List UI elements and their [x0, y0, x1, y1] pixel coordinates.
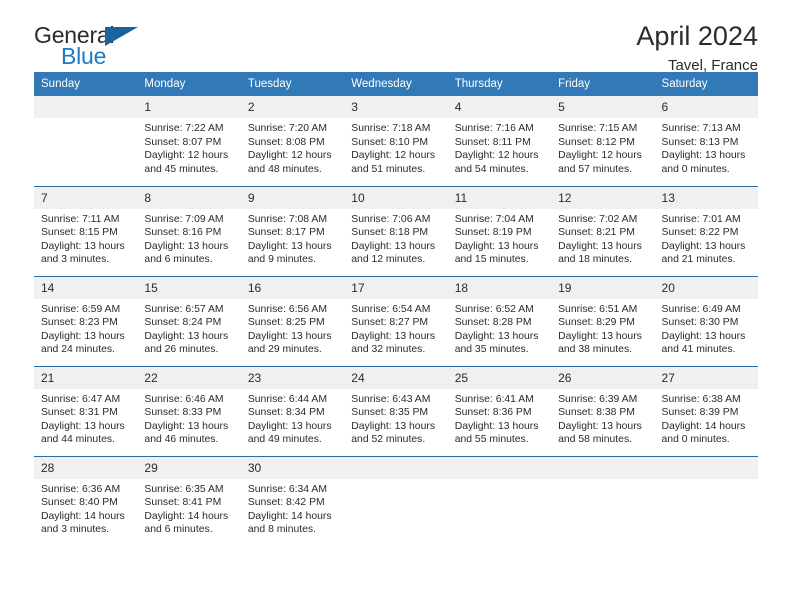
- calendar-day-cell[interactable]: 21Sunrise: 6:47 AMSunset: 8:31 PMDayligh…: [34, 366, 137, 456]
- calendar-day-cell[interactable]: 9Sunrise: 7:08 AMSunset: 8:17 PMDaylight…: [241, 186, 344, 276]
- sunrise-text: Sunrise: 6:38 AM: [662, 393, 750, 407]
- day-number: 18: [448, 277, 551, 299]
- daylight-text: Daylight: 13 hours and 35 minutes.: [455, 330, 543, 357]
- day-details: Sunrise: 7:01 AMSunset: 8:22 PMDaylight:…: [655, 209, 758, 267]
- sunset-text: Sunset: 8:07 PM: [144, 136, 232, 150]
- logo-text-blue: Blue: [61, 45, 106, 68]
- calendar-day-cell[interactable]: 18Sunrise: 6:52 AMSunset: 8:28 PMDayligh…: [448, 276, 551, 366]
- calendar-day-cell[interactable]: 5Sunrise: 7:15 AMSunset: 8:12 PMDaylight…: [551, 96, 654, 186]
- day-details: Sunrise: 6:34 AMSunset: 8:42 PMDaylight:…: [241, 479, 344, 537]
- day-details: Sunrise: 6:47 AMSunset: 8:31 PMDaylight:…: [34, 389, 137, 447]
- day-number: 14: [34, 277, 137, 299]
- day-number: 11: [448, 187, 551, 209]
- daylight-text: Daylight: 13 hours and 55 minutes.: [455, 420, 543, 447]
- day-number: [34, 96, 137, 118]
- daylight-text: Daylight: 13 hours and 0 minutes.: [662, 149, 750, 176]
- calendar-day-cell[interactable]: 19Sunrise: 6:51 AMSunset: 8:29 PMDayligh…: [551, 276, 654, 366]
- sunset-text: Sunset: 8:38 PM: [558, 406, 646, 420]
- day-number: 26: [551, 367, 654, 389]
- day-number: 13: [655, 187, 758, 209]
- sunrise-text: Sunrise: 6:44 AM: [248, 393, 336, 407]
- day-details: Sunrise: 7:04 AMSunset: 8:19 PMDaylight:…: [448, 209, 551, 267]
- calendar-day-cell[interactable]: 29Sunrise: 6:35 AMSunset: 8:41 PMDayligh…: [137, 456, 240, 546]
- day-number: 22: [137, 367, 240, 389]
- sunrise-text: Sunrise: 7:16 AM: [455, 122, 543, 136]
- calendar-day-cell[interactable]: 8Sunrise: 7:09 AMSunset: 8:16 PMDaylight…: [137, 186, 240, 276]
- calendar-day-cell[interactable]: 25Sunrise: 6:41 AMSunset: 8:36 PMDayligh…: [448, 366, 551, 456]
- calendar-body: 1Sunrise: 7:22 AMSunset: 8:07 PMDaylight…: [34, 96, 758, 546]
- sunrise-text: Sunrise: 7:01 AM: [662, 213, 750, 227]
- day-details: Sunrise: 7:09 AMSunset: 8:16 PMDaylight:…: [137, 209, 240, 267]
- calendar-page: General Blue April 2024 Tavel, France Su…: [0, 0, 792, 612]
- daylight-text: Daylight: 14 hours and 8 minutes.: [248, 510, 336, 537]
- day-details: Sunrise: 7:16 AMSunset: 8:11 PMDaylight:…: [448, 118, 551, 176]
- sunrise-text: Sunrise: 6:54 AM: [351, 303, 439, 317]
- sunset-text: Sunset: 8:36 PM: [455, 406, 543, 420]
- sunrise-text: Sunrise: 6:43 AM: [351, 393, 439, 407]
- daylight-text: Daylight: 13 hours and 46 minutes.: [144, 420, 232, 447]
- daylight-text: Daylight: 12 hours and 48 minutes.: [248, 149, 336, 176]
- day-number: [344, 457, 447, 479]
- calendar-day-cell[interactable]: 24Sunrise: 6:43 AMSunset: 8:35 PMDayligh…: [344, 366, 447, 456]
- sunset-text: Sunset: 8:42 PM: [248, 496, 336, 510]
- calendar-week-row: 28Sunrise: 6:36 AMSunset: 8:40 PMDayligh…: [34, 456, 758, 546]
- title-block: April 2024 Tavel, France: [636, 22, 758, 74]
- day-number: 4: [448, 96, 551, 118]
- day-details: Sunrise: 6:56 AMSunset: 8:25 PMDaylight:…: [241, 299, 344, 357]
- day-number: [655, 457, 758, 479]
- daylight-text: Daylight: 13 hours and 29 minutes.: [248, 330, 336, 357]
- daylight-text: Daylight: 13 hours and 52 minutes.: [351, 420, 439, 447]
- sunrise-sunset-calendar: Sunday Monday Tuesday Wednesday Thursday…: [34, 72, 758, 546]
- sunset-text: Sunset: 8:17 PM: [248, 226, 336, 240]
- day-details: Sunrise: 6:57 AMSunset: 8:24 PMDaylight:…: [137, 299, 240, 357]
- weekday-header-monday: Monday: [137, 72, 240, 96]
- sunset-text: Sunset: 8:23 PM: [41, 316, 129, 330]
- sunset-text: Sunset: 8:25 PM: [248, 316, 336, 330]
- daylight-text: Daylight: 13 hours and 26 minutes.: [144, 330, 232, 357]
- weekday-header-sunday: Sunday: [34, 72, 137, 96]
- day-details: Sunrise: 7:06 AMSunset: 8:18 PMDaylight:…: [344, 209, 447, 267]
- calendar-cell-empty: [448, 456, 551, 546]
- sunrise-text: Sunrise: 7:22 AM: [144, 122, 232, 136]
- sunrise-text: Sunrise: 6:35 AM: [144, 483, 232, 497]
- calendar-day-cell[interactable]: 4Sunrise: 7:16 AMSunset: 8:11 PMDaylight…: [448, 96, 551, 186]
- calendar-week-row: 14Sunrise: 6:59 AMSunset: 8:23 PMDayligh…: [34, 276, 758, 366]
- day-details: Sunrise: 6:36 AMSunset: 8:40 PMDaylight:…: [34, 479, 137, 537]
- calendar-day-cell[interactable]: 1Sunrise: 7:22 AMSunset: 8:07 PMDaylight…: [137, 96, 240, 186]
- calendar-day-cell[interactable]: 30Sunrise: 6:34 AMSunset: 8:42 PMDayligh…: [241, 456, 344, 546]
- sunrise-text: Sunrise: 7:15 AM: [558, 122, 646, 136]
- sunrise-text: Sunrise: 6:39 AM: [558, 393, 646, 407]
- daylight-text: Daylight: 13 hours and 6 minutes.: [144, 240, 232, 267]
- sunrise-text: Sunrise: 6:34 AM: [248, 483, 336, 497]
- sunset-text: Sunset: 8:08 PM: [248, 136, 336, 150]
- calendar-day-cell[interactable]: 3Sunrise: 7:18 AMSunset: 8:10 PMDaylight…: [344, 96, 447, 186]
- sunset-text: Sunset: 8:10 PM: [351, 136, 439, 150]
- sunset-text: Sunset: 8:22 PM: [662, 226, 750, 240]
- day-details: Sunrise: 7:15 AMSunset: 8:12 PMDaylight:…: [551, 118, 654, 176]
- day-details: Sunrise: 6:52 AMSunset: 8:28 PMDaylight:…: [448, 299, 551, 357]
- calendar-day-cell[interactable]: 22Sunrise: 6:46 AMSunset: 8:33 PMDayligh…: [137, 366, 240, 456]
- sunset-text: Sunset: 8:18 PM: [351, 226, 439, 240]
- sunset-text: Sunset: 8:35 PM: [351, 406, 439, 420]
- day-number: 17: [344, 277, 447, 299]
- day-details: Sunrise: 7:08 AMSunset: 8:17 PMDaylight:…: [241, 209, 344, 267]
- day-details: Sunrise: 7:11 AMSunset: 8:15 PMDaylight:…: [34, 209, 137, 267]
- daylight-text: Daylight: 13 hours and 38 minutes.: [558, 330, 646, 357]
- daylight-text: Daylight: 13 hours and 3 minutes.: [41, 240, 129, 267]
- sunset-text: Sunset: 8:27 PM: [351, 316, 439, 330]
- sunrise-text: Sunrise: 7:11 AM: [41, 213, 129, 227]
- day-number: 3: [344, 96, 447, 118]
- day-details: Sunrise: 6:54 AMSunset: 8:27 PMDaylight:…: [344, 299, 447, 357]
- day-details: Sunrise: 6:41 AMSunset: 8:36 PMDaylight:…: [448, 389, 551, 447]
- page-title: April 2024: [636, 22, 758, 50]
- page-header: General Blue April 2024 Tavel, France: [34, 0, 758, 72]
- sunrise-text: Sunrise: 6:51 AM: [558, 303, 646, 317]
- day-number: 10: [344, 187, 447, 209]
- sunset-text: Sunset: 8:24 PM: [144, 316, 232, 330]
- day-details: Sunrise: 7:02 AMSunset: 8:21 PMDaylight:…: [551, 209, 654, 267]
- sunrise-text: Sunrise: 7:20 AM: [248, 122, 336, 136]
- daylight-text: Daylight: 13 hours and 15 minutes.: [455, 240, 543, 267]
- sunrise-text: Sunrise: 7:04 AM: [455, 213, 543, 227]
- daylight-text: Daylight: 13 hours and 18 minutes.: [558, 240, 646, 267]
- calendar-week-row: 7Sunrise: 7:11 AMSunset: 8:15 PMDaylight…: [34, 186, 758, 276]
- day-number: 27: [655, 367, 758, 389]
- calendar-cell-empty: [655, 456, 758, 546]
- daylight-text: Daylight: 12 hours and 57 minutes.: [558, 149, 646, 176]
- sunrise-text: Sunrise: 6:52 AM: [455, 303, 543, 317]
- day-number: 24: [344, 367, 447, 389]
- general-blue-logo[interactable]: General Blue: [34, 22, 184, 70]
- sunrise-text: Sunrise: 7:02 AM: [558, 213, 646, 227]
- daylight-text: Daylight: 13 hours and 44 minutes.: [41, 420, 129, 447]
- sunrise-text: Sunrise: 6:59 AM: [41, 303, 129, 317]
- calendar-day-cell[interactable]: 16Sunrise: 6:56 AMSunset: 8:25 PMDayligh…: [241, 276, 344, 366]
- sunrise-text: Sunrise: 6:57 AM: [144, 303, 232, 317]
- day-number: 23: [241, 367, 344, 389]
- calendar-day-cell[interactable]: 6Sunrise: 7:13 AMSunset: 8:13 PMDaylight…: [655, 96, 758, 186]
- calendar-cell-empty: [344, 456, 447, 546]
- day-number: 20: [655, 277, 758, 299]
- day-number: 19: [551, 277, 654, 299]
- sunrise-text: Sunrise: 7:18 AM: [351, 122, 439, 136]
- weekday-header-wednesday: Wednesday: [344, 72, 447, 96]
- day-details: Sunrise: 6:51 AMSunset: 8:29 PMDaylight:…: [551, 299, 654, 357]
- triangle-icon: [105, 27, 138, 46]
- day-details: Sunrise: 6:38 AMSunset: 8:39 PMDaylight:…: [655, 389, 758, 447]
- day-number: 5: [551, 96, 654, 118]
- sunrise-text: Sunrise: 6:47 AM: [41, 393, 129, 407]
- day-details: Sunrise: 7:13 AMSunset: 8:13 PMDaylight:…: [655, 118, 758, 176]
- calendar-day-cell[interactable]: 13Sunrise: 7:01 AMSunset: 8:22 PMDayligh…: [655, 186, 758, 276]
- sunset-text: Sunset: 8:40 PM: [41, 496, 129, 510]
- calendar-cell-empty: [551, 456, 654, 546]
- calendar-day-cell[interactable]: 27Sunrise: 6:38 AMSunset: 8:39 PMDayligh…: [655, 366, 758, 456]
- day-number: [448, 457, 551, 479]
- calendar-day-cell[interactable]: 20Sunrise: 6:49 AMSunset: 8:30 PMDayligh…: [655, 276, 758, 366]
- daylight-text: Daylight: 13 hours and 21 minutes.: [662, 240, 750, 267]
- sunset-text: Sunset: 8:39 PM: [662, 406, 750, 420]
- weekday-header-tuesday: Tuesday: [241, 72, 344, 96]
- weekday-header-saturday: Saturday: [655, 72, 758, 96]
- daylight-text: Daylight: 13 hours and 24 minutes.: [41, 330, 129, 357]
- daylight-text: Daylight: 13 hours and 32 minutes.: [351, 330, 439, 357]
- weekday-header-friday: Friday: [551, 72, 654, 96]
- sunrise-text: Sunrise: 6:36 AM: [41, 483, 129, 497]
- day-number: 9: [241, 187, 344, 209]
- day-details: Sunrise: 7:18 AMSunset: 8:10 PMDaylight:…: [344, 118, 447, 176]
- sunrise-text: Sunrise: 7:13 AM: [662, 122, 750, 136]
- daylight-text: Daylight: 13 hours and 49 minutes.: [248, 420, 336, 447]
- sunset-text: Sunset: 8:13 PM: [662, 136, 750, 150]
- sunrise-text: Sunrise: 7:08 AM: [248, 213, 336, 227]
- calendar-day-cell[interactable]: 17Sunrise: 6:54 AMSunset: 8:27 PMDayligh…: [344, 276, 447, 366]
- day-number: 29: [137, 457, 240, 479]
- day-number: 8: [137, 187, 240, 209]
- day-details: Sunrise: 6:46 AMSunset: 8:33 PMDaylight:…: [137, 389, 240, 447]
- day-details: Sunrise: 6:39 AMSunset: 8:38 PMDaylight:…: [551, 389, 654, 447]
- sunrise-text: Sunrise: 7:06 AM: [351, 213, 439, 227]
- day-number: 28: [34, 457, 137, 479]
- sunset-text: Sunset: 8:21 PM: [558, 226, 646, 240]
- day-details: Sunrise: 6:44 AMSunset: 8:34 PMDaylight:…: [241, 389, 344, 447]
- sunrise-text: Sunrise: 6:56 AM: [248, 303, 336, 317]
- sunset-text: Sunset: 8:15 PM: [41, 226, 129, 240]
- day-number: 12: [551, 187, 654, 209]
- sunrise-text: Sunrise: 6:41 AM: [455, 393, 543, 407]
- sunset-text: Sunset: 8:19 PM: [455, 226, 543, 240]
- daylight-text: Daylight: 14 hours and 0 minutes.: [662, 420, 750, 447]
- calendar-day-cell[interactable]: 26Sunrise: 6:39 AMSunset: 8:38 PMDayligh…: [551, 366, 654, 456]
- daylight-text: Daylight: 12 hours and 54 minutes.: [455, 149, 543, 176]
- day-details: Sunrise: 6:35 AMSunset: 8:41 PMDaylight:…: [137, 479, 240, 537]
- day-details: Sunrise: 6:43 AMSunset: 8:35 PMDaylight:…: [344, 389, 447, 447]
- calendar-cell-empty: [34, 96, 137, 186]
- daylight-text: Daylight: 13 hours and 12 minutes.: [351, 240, 439, 267]
- day-number: 21: [34, 367, 137, 389]
- day-number: 25: [448, 367, 551, 389]
- sunrise-text: Sunrise: 6:46 AM: [144, 393, 232, 407]
- daylight-text: Daylight: 14 hours and 3 minutes.: [41, 510, 129, 537]
- day-number: [551, 457, 654, 479]
- daylight-text: Daylight: 12 hours and 45 minutes.: [144, 149, 232, 176]
- day-details: Sunrise: 6:49 AMSunset: 8:30 PMDaylight:…: [655, 299, 758, 357]
- day-details: Sunrise: 7:20 AMSunset: 8:08 PMDaylight:…: [241, 118, 344, 176]
- daylight-text: Daylight: 12 hours and 51 minutes.: [351, 149, 439, 176]
- calendar-day-cell[interactable]: 28Sunrise: 6:36 AMSunset: 8:40 PMDayligh…: [34, 456, 137, 546]
- day-number: 2: [241, 96, 344, 118]
- location-label: Tavel, France: [636, 57, 758, 74]
- weekday-header-row: Sunday Monday Tuesday Wednesday Thursday…: [34, 72, 758, 96]
- sunset-text: Sunset: 8:11 PM: [455, 136, 543, 150]
- sunset-text: Sunset: 8:16 PM: [144, 226, 232, 240]
- day-number: 6: [655, 96, 758, 118]
- day-number: 7: [34, 187, 137, 209]
- day-number: 16: [241, 277, 344, 299]
- calendar-day-cell[interactable]: 7Sunrise: 7:11 AMSunset: 8:15 PMDaylight…: [34, 186, 137, 276]
- calendar-week-row: 21Sunrise: 6:47 AMSunset: 8:31 PMDayligh…: [34, 366, 758, 456]
- day-number: 15: [137, 277, 240, 299]
- sunset-text: Sunset: 8:31 PM: [41, 406, 129, 420]
- sunset-text: Sunset: 8:28 PM: [455, 316, 543, 330]
- sunset-text: Sunset: 8:34 PM: [248, 406, 336, 420]
- weekday-header-thursday: Thursday: [448, 72, 551, 96]
- calendar-day-cell[interactable]: 2Sunrise: 7:20 AMSunset: 8:08 PMDaylight…: [241, 96, 344, 186]
- daylight-text: Daylight: 13 hours and 41 minutes.: [662, 330, 750, 357]
- daylight-text: Daylight: 13 hours and 9 minutes.: [248, 240, 336, 267]
- daylight-text: Daylight: 14 hours and 6 minutes.: [144, 510, 232, 537]
- calendar-day-cell[interactable]: 23Sunrise: 6:44 AMSunset: 8:34 PMDayligh…: [241, 366, 344, 456]
- sunset-text: Sunset: 8:41 PM: [144, 496, 232, 510]
- calendar-day-cell[interactable]: 11Sunrise: 7:04 AMSunset: 8:19 PMDayligh…: [448, 186, 551, 276]
- day-details: Sunrise: 6:59 AMSunset: 8:23 PMDaylight:…: [34, 299, 137, 357]
- calendar-day-cell[interactable]: 14Sunrise: 6:59 AMSunset: 8:23 PMDayligh…: [34, 276, 137, 366]
- sunrise-text: Sunrise: 7:09 AM: [144, 213, 232, 227]
- calendar-day-cell[interactable]: 15Sunrise: 6:57 AMSunset: 8:24 PMDayligh…: [137, 276, 240, 366]
- sunrise-text: Sunrise: 6:49 AM: [662, 303, 750, 317]
- daylight-text: Daylight: 13 hours and 58 minutes.: [558, 420, 646, 447]
- sunset-text: Sunset: 8:30 PM: [662, 316, 750, 330]
- day-number: 1: [137, 96, 240, 118]
- sunset-text: Sunset: 8:12 PM: [558, 136, 646, 150]
- sunset-text: Sunset: 8:29 PM: [558, 316, 646, 330]
- day-number: 30: [241, 457, 344, 479]
- calendar-day-cell[interactable]: 12Sunrise: 7:02 AMSunset: 8:21 PMDayligh…: [551, 186, 654, 276]
- day-details: Sunrise: 7:22 AMSunset: 8:07 PMDaylight:…: [137, 118, 240, 176]
- calendar-day-cell[interactable]: 10Sunrise: 7:06 AMSunset: 8:18 PMDayligh…: [344, 186, 447, 276]
- sunset-text: Sunset: 8:33 PM: [144, 406, 232, 420]
- calendar-week-row: 1Sunrise: 7:22 AMSunset: 8:07 PMDaylight…: [34, 96, 758, 186]
